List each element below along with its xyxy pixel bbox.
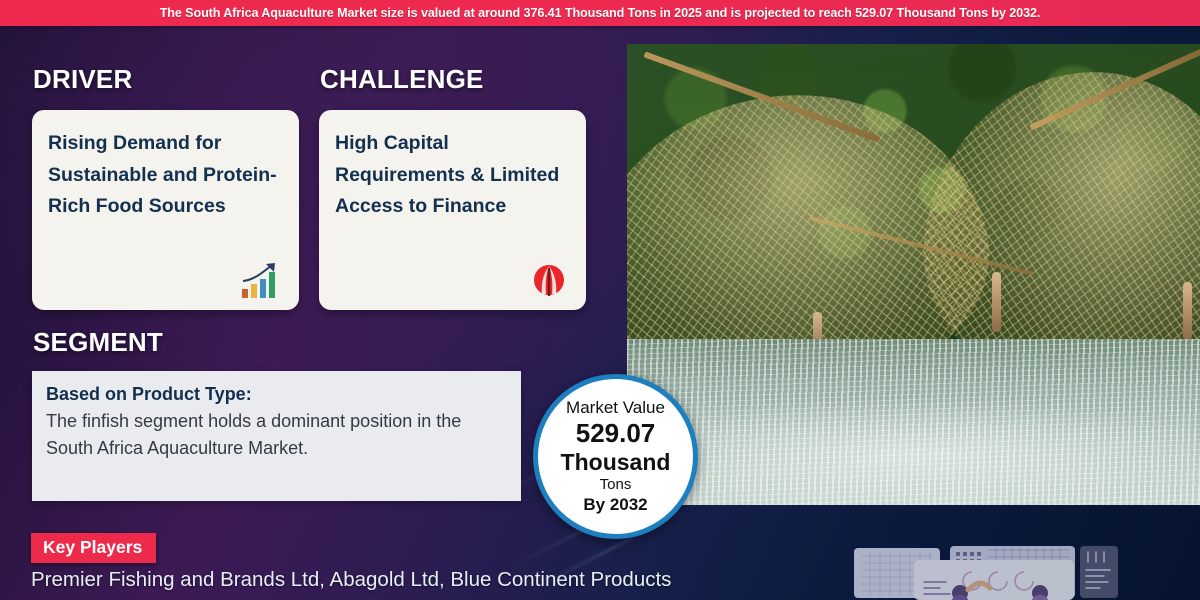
market-value-number: 529.07 [576,417,656,450]
challenge-heading: CHALLENGE [320,64,484,95]
infographic-canvas: The South Africa Aquaculture Market size… [0,0,1200,600]
key-players-badge: Key Players [31,533,156,563]
market-value-badge: Market Value 529.07 Thousand Tons By 203… [533,374,698,539]
segment-box: Based on Product Type: The finfish segme… [32,371,521,501]
dashboard-illustration [852,538,1172,600]
top-banner: The South Africa Aquaculture Market size… [0,0,1200,26]
banner-text: The South Africa Aquaculture Market size… [160,6,1041,20]
growth-bar-chart-icon [239,260,285,300]
fishermen-photo [627,44,1200,505]
market-value-year: By 2032 [583,495,647,515]
driver-heading: DRIVER [33,64,132,95]
market-value-unit-secondary: Tons [600,475,632,495]
driver-card: Rising Demand for Sustainable and Protei… [32,110,299,310]
market-value-label: Market Value [566,398,665,418]
segment-body-text: The finfish segment holds a dominant pos… [46,408,507,463]
segment-heading: SEGMENT [33,327,163,358]
market-value-unit: Thousand [561,450,671,475]
photo-shading-overlay [627,44,1200,505]
key-players-list: Premier Fishing and Brands Ltd, Abagold … [31,568,671,592]
driver-card-text: Rising Demand for Sustainable and Protei… [48,128,283,223]
red-circle-finance-icon [526,260,572,300]
challenge-card: High Capital Requirements & Limited Acce… [319,110,586,310]
challenge-card-text: High Capital Requirements & Limited Acce… [335,128,570,223]
segment-subheading: Based on Product Type: [46,381,507,408]
